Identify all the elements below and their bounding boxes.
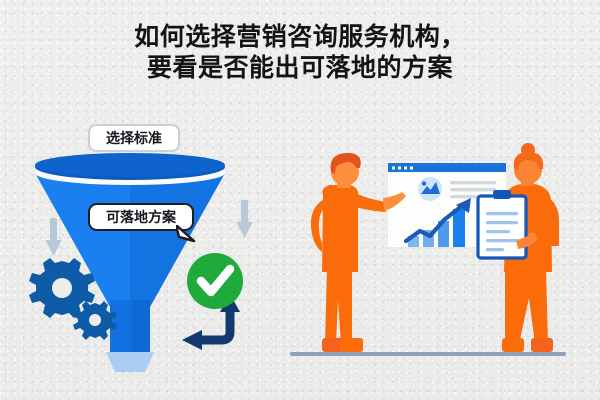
chart-mountain-icon bbox=[418, 177, 442, 201]
consulting-scene bbox=[0, 0, 600, 400]
ground-line bbox=[290, 352, 566, 356]
poster-canvas: 如何选择营销咨询服务机构， 要看是否能出可落地的方案 bbox=[0, 0, 600, 400]
